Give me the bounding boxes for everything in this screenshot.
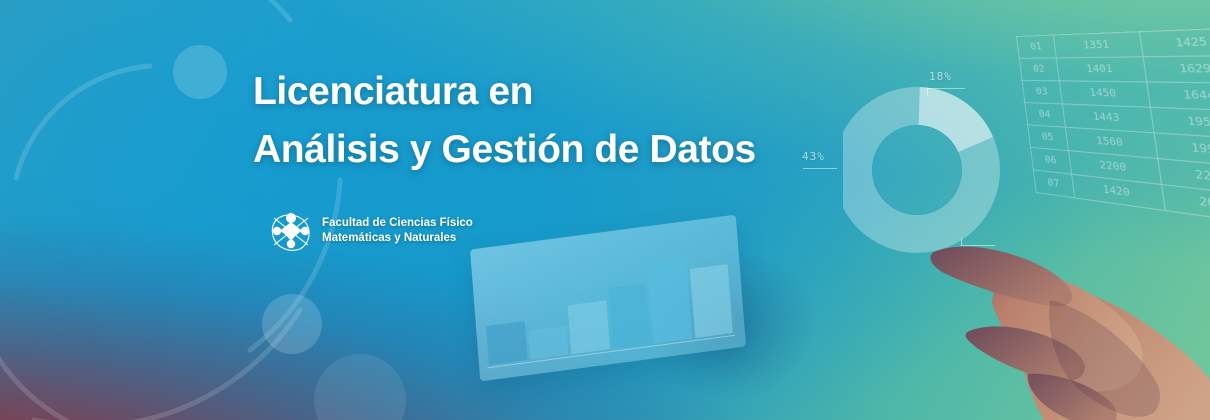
faculty-name-line-2: Matemáticas y Naturales xyxy=(322,231,473,246)
cell: 1401 xyxy=(1056,57,1146,82)
donut-leader-39 xyxy=(961,245,995,246)
data-table-grid: 01 1351 1425 1801 02 1401 1629 1864 03 1… xyxy=(1016,22,1210,246)
donut-label-18: 18% xyxy=(929,70,952,83)
donut-chart-rings xyxy=(843,74,1003,264)
title-line-1: Licenciatura en xyxy=(253,63,756,121)
cell: 2020 xyxy=(1162,184,1210,226)
page-title: Licenciatura en Análisis y Gestión de Da… xyxy=(253,63,756,179)
data-table-body: 01 1351 1425 1801 02 1401 1629 1864 03 1… xyxy=(1017,23,1210,245)
faculty-logo-text: Facultad de Ciencias Físico Matemáticas … xyxy=(322,216,473,246)
row-label: 01 xyxy=(1017,35,1057,58)
program-banner: 18% 43% 39% 01 1351 1425 1801 02 1401 16… xyxy=(0,0,1210,420)
cell: 1450 xyxy=(1059,81,1150,107)
row-label: 04 xyxy=(1025,103,1066,128)
donut-label-43: 43% xyxy=(802,150,825,163)
title-line-2: Análisis y Gestión de Datos xyxy=(253,121,756,179)
row-label: 03 xyxy=(1022,80,1062,104)
cell: 1425 xyxy=(1139,28,1210,57)
donut-label-39: 39% xyxy=(974,249,997,262)
donut-tick-39 xyxy=(961,238,962,246)
donut-tick-18 xyxy=(927,88,928,95)
donut-leader-18 xyxy=(927,88,965,89)
cell: 1629 xyxy=(1143,55,1210,83)
faculty-name-line-1: Facultad de Ciencias Físico xyxy=(322,216,473,231)
donut-chart: 18% 43% 39% xyxy=(843,74,1003,264)
row-label: 07 xyxy=(1033,170,1074,198)
faculty-logo[interactable]: Facultad de Ciencias Físico Matemáticas … xyxy=(269,209,473,253)
row-label: 02 xyxy=(1019,58,1059,81)
donut-leader-43 xyxy=(803,168,837,169)
network-nodes-emblem-icon xyxy=(269,209,313,253)
cell: 1351 xyxy=(1053,32,1143,58)
